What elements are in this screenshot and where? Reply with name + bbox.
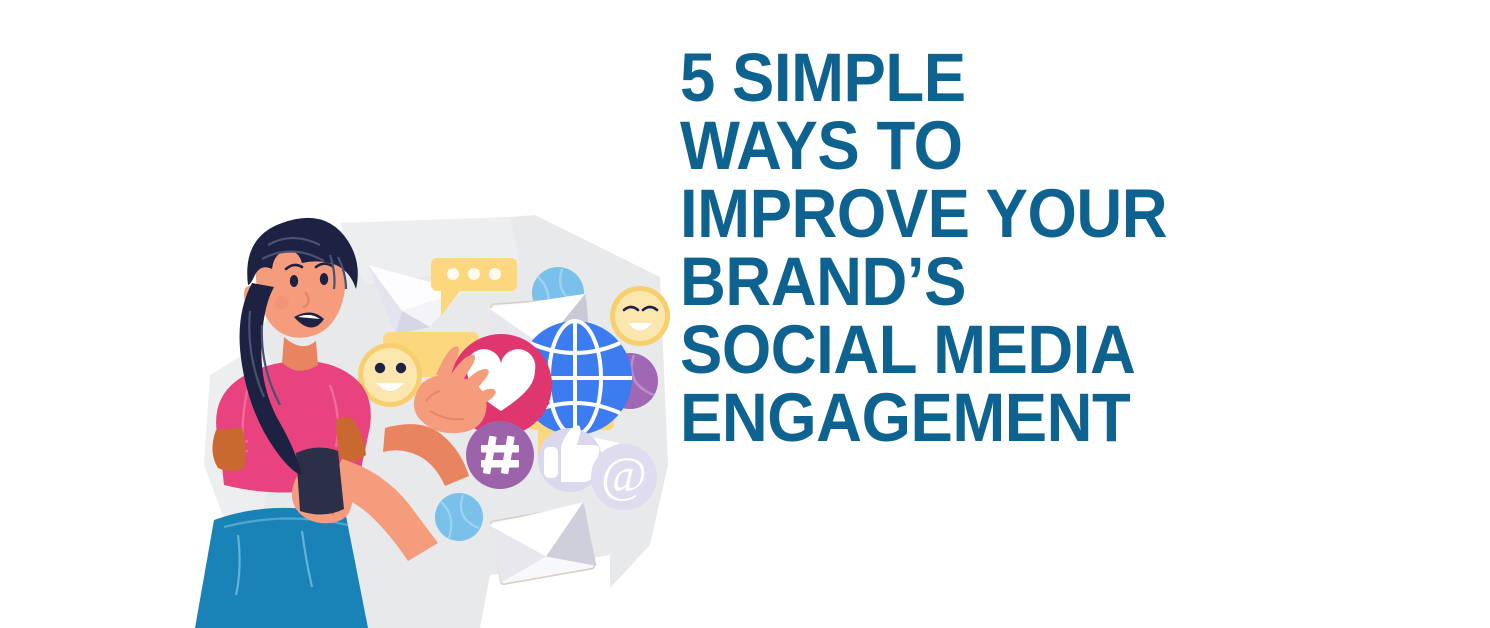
svg-text:@: @ <box>601 446 647 502</box>
page-title: 5 SIMPLE WAYS TO IMPROVE YOUR BRAND’S SO… <box>680 44 1280 452</box>
decorative-ball-icon-blue-lower <box>435 493 483 541</box>
hashtag-icon <box>466 421 534 489</box>
woman-phone <box>296 447 344 514</box>
poster-canvas: @ <box>0 0 1490 628</box>
hero-illustration: @ <box>190 215 690 628</box>
woman-eye-left <box>290 275 298 287</box>
headline-line-2: WAYS TO <box>680 112 1232 180</box>
woman-skirt <box>195 508 368 628</box>
headline-line-1: 5 SIMPLE <box>680 44 1232 112</box>
headline-line-4: BRAND’S <box>680 248 1232 316</box>
headline-line-3: IMPROVE YOUR <box>680 180 1232 248</box>
woman-sleeve-left <box>212 428 245 471</box>
headline-line-5: SOCIAL MEDIA <box>680 316 1232 384</box>
happy-face-icon <box>610 286 670 346</box>
woman-eye-right <box>320 273 328 285</box>
at-sign-icon: @ <box>591 444 657 510</box>
headline-line-6: ENGAGEMENT <box>680 384 1232 452</box>
